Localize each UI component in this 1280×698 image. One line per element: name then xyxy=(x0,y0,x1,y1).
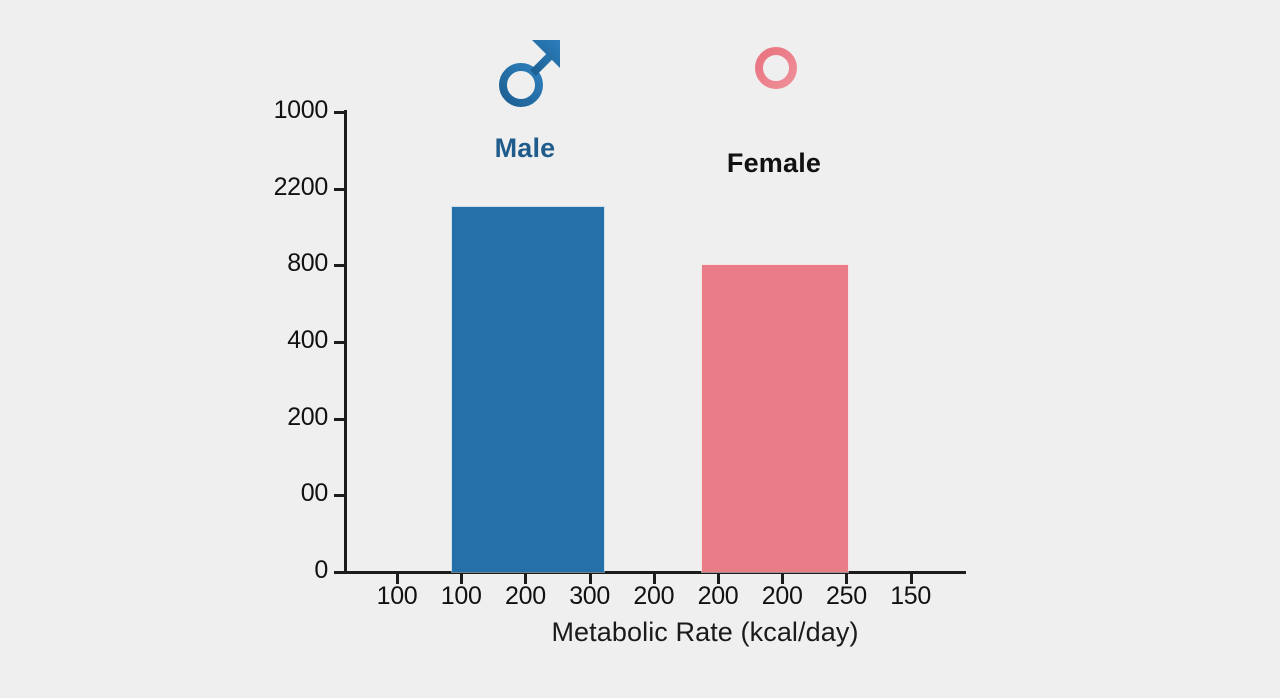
venus-symbol-icon xyxy=(716,44,836,124)
y-axis-tick-label: 2200 xyxy=(200,173,328,203)
metabolic-rate-bar-chart: Male Female 10002200800400200000 1001002… xyxy=(0,0,1280,698)
y-axis-tick-label-text: 0 xyxy=(208,556,328,585)
y-axis-tick xyxy=(334,571,346,574)
x-axis-title: Metabolic Rate (kcal/day) xyxy=(0,617,1280,648)
bar-male xyxy=(452,207,604,572)
y-axis-tick-label-text: 200 xyxy=(208,403,328,432)
y-axis-tick-label: 1000 xyxy=(200,96,328,126)
legend-label-female: Female xyxy=(659,148,889,179)
bar-female xyxy=(702,265,848,572)
mars-symbol-icon xyxy=(470,34,590,112)
y-axis-tick-label: 400 xyxy=(200,326,328,356)
y-axis-tick xyxy=(334,188,346,191)
y-axis-tick-label: 00 xyxy=(200,479,328,509)
y-axis-tick xyxy=(334,111,346,114)
y-axis-tick-label: 800 xyxy=(200,249,328,279)
y-axis-tick-label-text: 2200 xyxy=(208,173,328,202)
legend-label-male: Male xyxy=(410,133,640,164)
x-axis-title-text: Metabolic Rate (kcal/day) xyxy=(551,617,858,648)
y-axis-tick xyxy=(334,494,346,497)
x-axis-tick-label: 150 xyxy=(871,582,951,611)
y-axis-tick xyxy=(334,418,346,421)
y-axis-tick-label-text: 1000 xyxy=(208,96,328,125)
y-axis-tick-label-text: 400 xyxy=(208,326,328,355)
y-axis-tick-label: 200 xyxy=(200,403,328,433)
y-axis-tick xyxy=(334,341,346,344)
y-axis-tick-label: 0 xyxy=(200,556,328,586)
y-axis-tick-label-text: 800 xyxy=(208,249,328,278)
y-axis-tick-label-text: 00 xyxy=(208,479,328,508)
y-axis-tick xyxy=(334,264,346,267)
